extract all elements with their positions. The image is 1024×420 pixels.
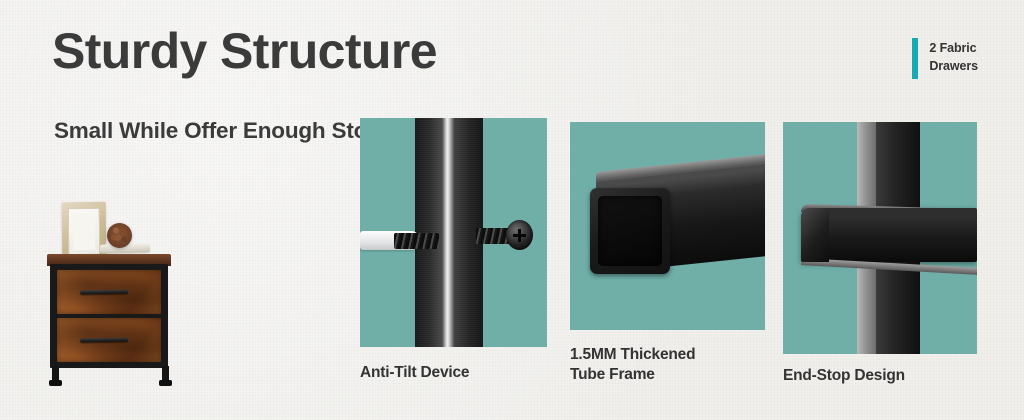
product-photo-nightstand: [40, 190, 230, 402]
infographic-banner: Sturdy Structure Small While Offer Enoug…: [0, 0, 1024, 420]
tube-hollow-interior: [598, 196, 662, 266]
picture-frame-mat: [73, 213, 95, 250]
nightstand-foot: [159, 380, 172, 386]
feature-caption-tube-frame: 1.5MM Thickened Tube Frame: [570, 345, 695, 386]
feature-caption-anti-tilt: Anti-Tilt Device: [360, 363, 469, 383]
feature-photo-end-stop: [783, 122, 977, 354]
feature-caption-end-stop: End-Stop Design: [783, 366, 905, 386]
screw-thread-left: [394, 233, 439, 249]
nightstand-foot: [49, 380, 62, 386]
drawer-handle: [80, 338, 128, 343]
status-badge: 2 Fabric Drawers: [912, 38, 978, 79]
feature-photo-tube-frame: [570, 122, 765, 330]
drawer-upper: [57, 270, 161, 314]
rail-end-stop-cap: [801, 208, 829, 262]
screw-slot: [518, 229, 521, 242]
feature-photo-anti-tilt: [360, 118, 547, 347]
pinecone-decor: [107, 223, 132, 248]
badge-label: 2 Fabric Drawers: [929, 38, 978, 75]
badge-accent-bar: [912, 38, 918, 79]
drawer-lower: [57, 318, 161, 362]
screw-head-icon: [506, 220, 533, 250]
nightstand-body: [50, 264, 168, 368]
picture-frame-inner: [68, 208, 100, 255]
tube-end-face: [590, 188, 670, 274]
page-title: Sturdy Structure: [52, 24, 437, 78]
drawer-handle: [80, 290, 128, 295]
